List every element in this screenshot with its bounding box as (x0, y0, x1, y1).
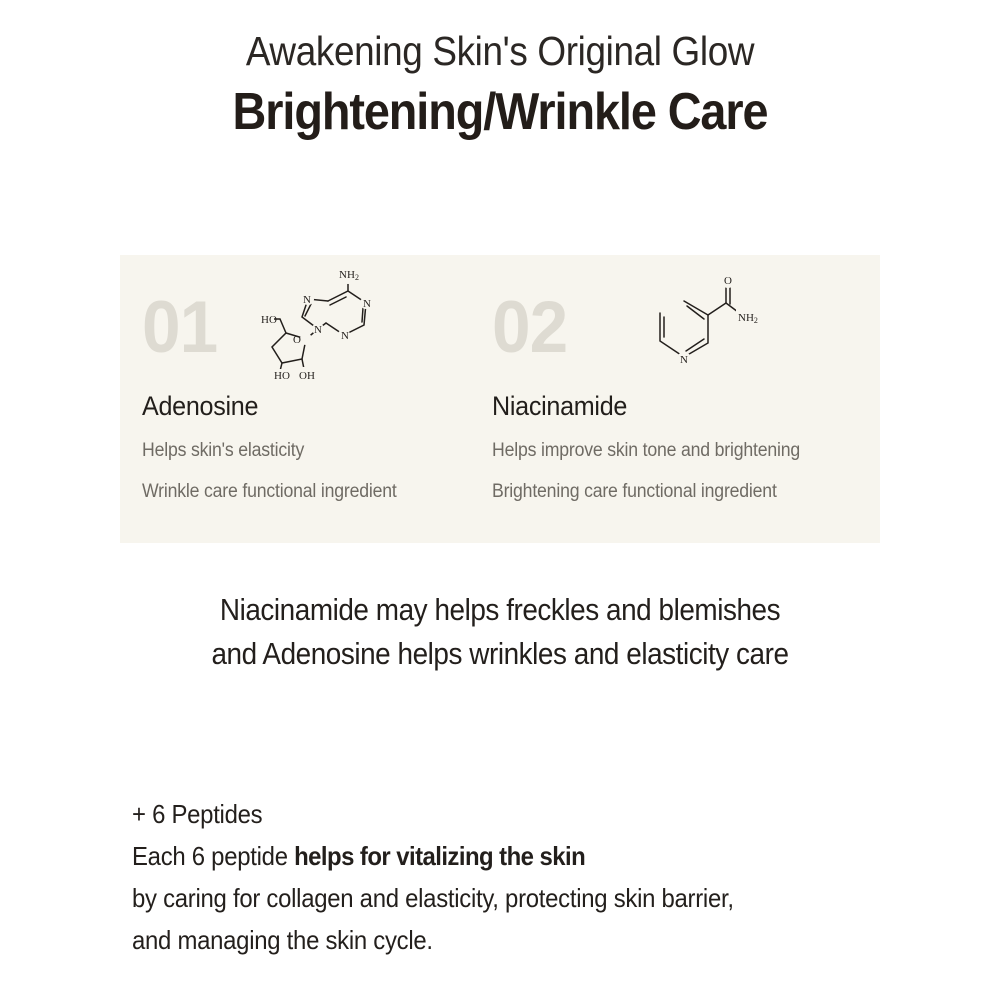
peptides-line-4: and managing the skin cycle. (132, 919, 868, 961)
adenosine-molecule-icon: NH2 N N N N O HO HO OH (236, 267, 376, 384)
page-header: Awakening Skin's Original Glow Brighteni… (0, 28, 1000, 141)
svg-text:HO: HO (274, 370, 290, 379)
header-eyebrow: Awakening Skin's Original Glow (50, 28, 950, 75)
ingredient-benefit: Helps improve skin tone and brightening (492, 440, 800, 462)
svg-text:O: O (724, 275, 732, 287)
benefit-statement-line-2: and Adenosine helps wrinkles and elastic… (50, 632, 950, 676)
page-title: Brightening/Wrinkle Care (50, 83, 950, 141)
ingredient-number: 01 (142, 291, 217, 364)
svg-text:N: N (314, 324, 322, 336)
ingredient-function: Wrinkle care functional ingredient (142, 481, 397, 503)
niacinamide-molecule-icon: N O NH2 (630, 267, 760, 384)
svg-text:N: N (341, 330, 349, 342)
ingredient-function: Brightening care functional ingredient (492, 481, 777, 503)
svg-text:OH: OH (299, 370, 315, 379)
peptides-line-2: Each 6 peptide helps for vitalizing the … (132, 835, 868, 877)
svg-text:O: O (293, 334, 301, 346)
ingredient-name: Adenosine (142, 391, 258, 422)
product-detail-page: Awakening Skin's Original Glow Brighteni… (0, 0, 1000, 1000)
ingredient-card-adenosine: 01 (132, 255, 482, 543)
benefit-statement: Niacinamide may helps freckles and blemi… (0, 588, 1000, 676)
ingredient-card-niacinamide: 02 (482, 255, 877, 543)
svg-text:N: N (363, 298, 371, 310)
peptides-line-2-emphasis: helps for vitalizing the skin (294, 841, 585, 871)
svg-text:N: N (680, 354, 688, 366)
ingredients-panel: 01 (120, 255, 880, 543)
ingredient-name: Niacinamide (492, 391, 627, 422)
peptides-section: + 6 Peptides Each 6 peptide helps for vi… (132, 793, 932, 961)
ingredient-benefit: Helps skin's elasticity (142, 440, 304, 462)
benefit-statement-line-1: Niacinamide may helps freckles and blemi… (50, 588, 950, 632)
peptides-line-3: by caring for collagen and elasticity, p… (132, 877, 868, 919)
svg-text:HO: HO (261, 314, 277, 326)
ingredient-number: 02 (492, 291, 567, 364)
peptides-line-2-prefix: Each 6 peptide (132, 841, 294, 871)
svg-text:N: N (303, 294, 311, 306)
peptides-heading: + 6 Peptides (132, 793, 868, 835)
